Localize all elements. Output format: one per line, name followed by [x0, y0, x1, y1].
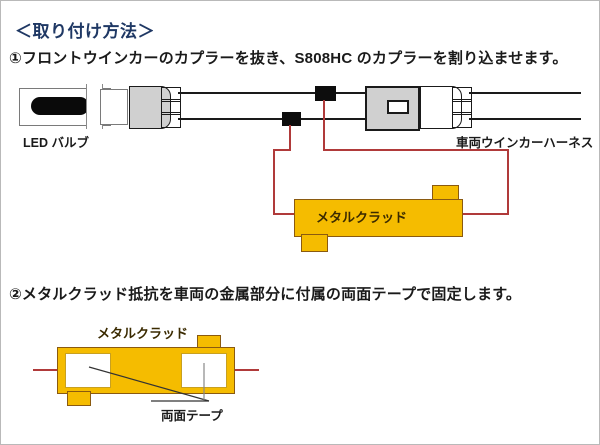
red-wire-right-vertical [507, 149, 509, 215]
harness-wire-upper [469, 92, 581, 94]
red-wire-left-vertical [273, 149, 275, 215]
red-wire-right-horizontal [323, 149, 509, 151]
red-wire-left-turn [273, 149, 291, 151]
red-wire-left-into-resistor [273, 213, 295, 215]
double-sided-tape-label: 両面テープ [161, 405, 223, 424]
resistor-label-top: メタルクラッド [316, 207, 407, 226]
harness-wire-lower [469, 118, 581, 120]
double-sided-tape-left [65, 353, 111, 388]
splice-block-lower [282, 112, 301, 126]
red-wire-left-drop [289, 125, 291, 151]
control-unit-slot [387, 100, 409, 114]
resistor-lead-right [231, 369, 259, 371]
resistor-tab-bottom-left [301, 234, 328, 252]
led-emitter-icon [31, 97, 89, 115]
gray-connector-pin-3 [161, 112, 181, 128]
double-sided-tape-right [181, 353, 227, 388]
step-2-instruction: ②メタルクラッド抵抗を車両の金属部分に付属の両面テープで固定します。 [9, 283, 521, 304]
led-bulb-base [100, 89, 128, 125]
installation-instructions-page: ＜取り付け方法＞ ①フロントウインカーのカプラーを抜き、S808HC のカプラー… [0, 0, 600, 445]
splice-block-upper [315, 86, 336, 101]
led-bulb-label: LED バルブ [23, 132, 89, 151]
page-title: ＜取り付け方法＞ [15, 17, 155, 42]
resistor-tab-bottom-diagram-bottom [67, 391, 91, 406]
resistor-label-bottom: メタルクラッド [97, 323, 188, 342]
resistor-lead-left [33, 369, 59, 371]
red-wire-right-drop [323, 100, 325, 151]
white-connector-pin-3 [452, 112, 472, 128]
wire-lower-black [178, 118, 366, 120]
red-wire-right-into-resistor [460, 213, 509, 215]
wire-upper-black [178, 92, 366, 94]
step-1-instruction: ①フロントウインカーのカプラーを抜き、S808HC のカプラーを割り込ませます。 [9, 47, 568, 68]
